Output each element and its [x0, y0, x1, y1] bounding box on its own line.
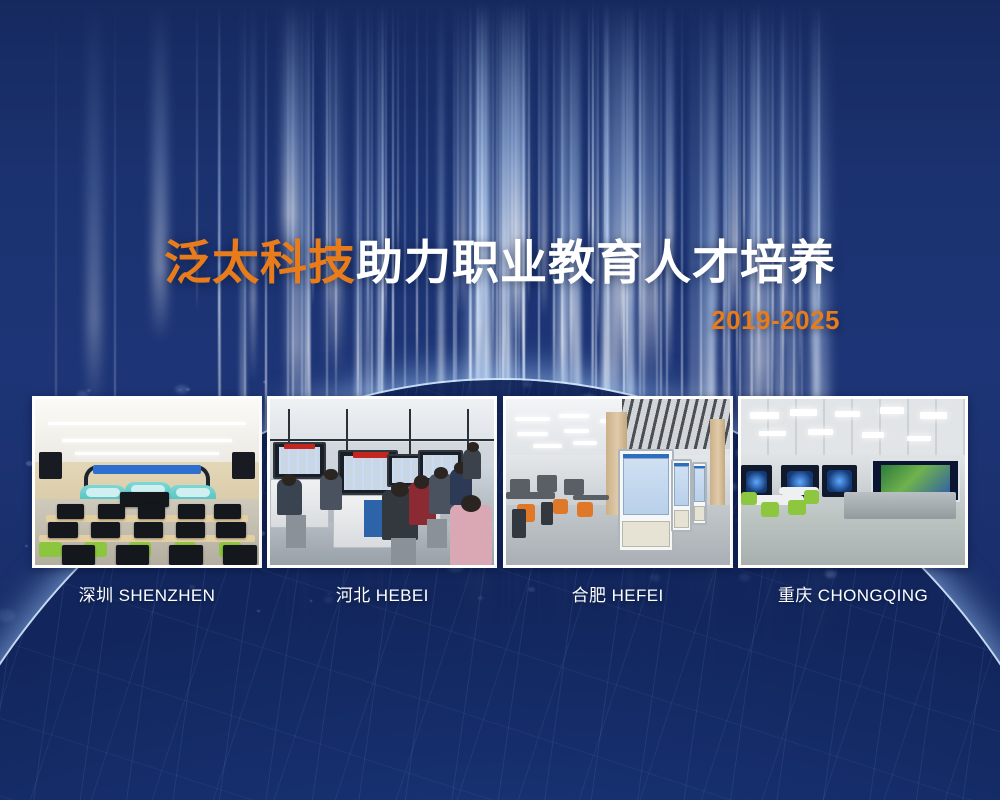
- photo-hebei[interactable]: [267, 396, 497, 568]
- year-range-label: 2019-2025: [711, 305, 840, 336]
- gallery-item[interactable]: 合肥 HEFEI: [503, 396, 733, 606]
- title-rest: 助力职业教育人才培养: [356, 236, 836, 289]
- title-brand: 泛太科技: [164, 236, 356, 289]
- gallery-item[interactable]: 河北 HEBEI: [267, 396, 497, 606]
- photo-hefei[interactable]: [503, 396, 733, 568]
- horizon-sun-glow: [140, 756, 860, 800]
- poster-canvas: 泛太科技助力职业教育人才培养 2019-2025: [0, 0, 1000, 800]
- photo-caption: 重庆 CHONGQING: [738, 581, 968, 606]
- photo-gallery: 深圳 SHENZHEN: [32, 396, 968, 606]
- gallery-item[interactable]: 深圳 SHENZHEN: [32, 396, 262, 606]
- photo-caption: 河北 HEBEI: [267, 581, 497, 606]
- photo-chongqing[interactable]: [738, 396, 968, 568]
- photo-caption: 合肥 HEFEI: [503, 581, 733, 606]
- photo-shenzhen[interactable]: [32, 396, 262, 568]
- gallery-item[interactable]: 重庆 CHONGQING: [738, 396, 968, 606]
- page-title: 泛太科技助力职业教育人才培养: [0, 238, 1000, 288]
- photo-caption: 深圳 SHENZHEN: [32, 581, 262, 606]
